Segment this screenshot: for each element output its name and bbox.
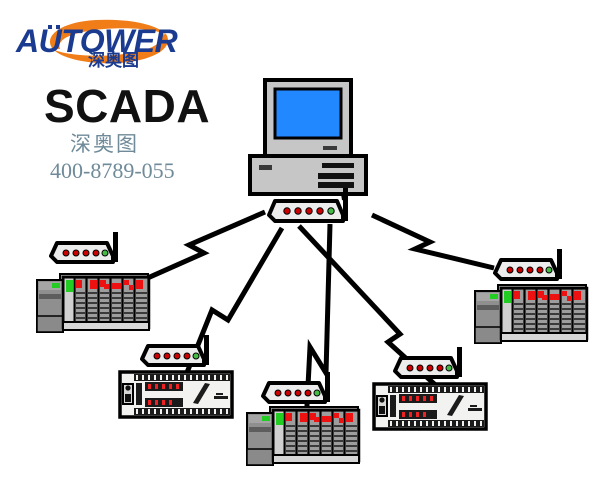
router-led-icon [184,353,190,359]
plc-io-led-icon [550,294,559,300]
plc-io-led-icon [334,413,339,418]
rtu-logo-bar-icon [468,408,482,411]
pc-drive-slot-icon [318,182,354,188]
router-led-icon [546,267,552,273]
plc-io-led-icon [124,280,129,285]
plc-cpu-run-led-icon [490,294,498,299]
pc-screen [275,89,341,138]
router-led-icon [527,267,533,273]
plc-cpu-label-strip [249,427,271,432]
router-led-icon [306,208,312,214]
plc-base-strip [63,322,149,330]
plc-io-led-icon [574,291,581,300]
plc-cpu-lower-face [475,327,501,343]
plc-io-led-icon [314,417,319,422]
router-led-icon [317,208,323,214]
plc-io-led-icon [129,285,134,290]
router-led-icon [427,365,433,371]
plc-io-led-icon [300,413,307,422]
rtu-logo-bar-icon [216,393,223,395]
rtu-port-icon [379,406,385,414]
node-left-plc[interactable] [37,274,149,332]
plc-io-led-icon [528,291,535,300]
plc-io-modules [75,278,148,327]
node-lower-left-rtu[interactable] [120,372,232,417]
plc-base-strip [273,455,359,463]
subtitle-chinese: 深奥图 [70,133,139,156]
router-led-icon [446,365,452,371]
router-led-icon [93,250,99,256]
router-led-icon [154,353,160,359]
router-led-icon [164,353,170,359]
router-led-icon [437,365,443,371]
rtu-port-icon [379,397,384,402]
plc-io-led-icon [322,416,331,422]
pc-monitor-indicator-icon [323,146,337,150]
plc-rack-run-led-icon [276,413,283,425]
scada-network-diagram-page: AUTOWER 深奥图 SCADA 深奥图 400-8789-055 [0,0,600,480]
router-led-icon [537,267,543,273]
plc-cpu-run-led-icon [262,416,270,421]
router-led-icon [174,353,180,359]
router-led-icon [83,250,89,256]
rtu-logo-bar-icon [214,396,228,399]
plc-io-led-icon [542,295,547,300]
plc-cpu-run-led-icon [52,283,60,288]
router-led-icon [73,250,79,256]
pc-drive-slot-icon [318,173,354,179]
plc-io-led-icon [112,283,121,289]
router-led-icon [295,390,301,396]
plc-io-modules [513,289,586,338]
plc-cpu-label-strip [39,294,61,299]
pc-drive-slot-icon [322,163,354,168]
plc-cpu-lower-face [37,316,63,332]
rtu-divider-bar [136,383,142,405]
router-led-icon [275,390,281,396]
plc-io-led-icon [339,418,344,423]
router-led-icon [407,365,413,371]
logo-umlaut-icon [56,25,60,29]
router-led-icon [295,208,301,214]
plc-io-led-icon [514,291,520,299]
router-led-icon [285,390,291,396]
plc-io-modules [285,411,358,460]
router-led-icon [63,250,69,256]
router-led-icon [507,267,513,273]
plc-rack-run-led-icon [66,280,73,292]
router-led-icon [517,267,523,273]
plc-io-led-icon [562,291,567,296]
rtu-port-icon [125,394,131,402]
router-led-icon [328,208,334,214]
plc-io-led-icon [76,280,82,288]
logo-subtitle-cn: 深奥图 [88,50,139,70]
rtu-logo-bar-icon [470,405,477,407]
node-right-plc[interactable] [475,285,587,343]
router-led-icon [417,365,423,371]
plc-io-led-icon [346,413,353,422]
router-led-icon [314,390,320,396]
plc-cpu-lower-face [247,449,273,465]
router-led-icon [193,353,199,359]
plc-io-led-icon [136,280,143,289]
plc-cpu-label-strip [477,305,499,310]
logo-umlaut-icon [48,25,52,29]
plc-io-led-icon [104,284,109,289]
router-led-icon [305,390,311,396]
plc-rack-run-led-icon [504,291,511,303]
page-title: SCADA [44,80,210,132]
plc-base-strip [501,333,587,341]
rtu-divider-bar [390,395,396,417]
node-scada-host-pc[interactable] [250,80,366,194]
network-topology-diagram: AUTOWER 深奥图 SCADA 深奥图 400-8789-055 [0,0,600,480]
pc-power-button-icon [259,165,272,170]
plc-io-led-icon [567,296,572,301]
rtu-port-icon [125,385,130,390]
plc-io-led-icon [286,413,292,421]
plc-io-led-icon [90,280,97,289]
node-lower-right-rtu[interactable] [374,384,486,429]
contact-phone: 400-8789-055 [50,158,175,183]
router-led-icon [284,208,290,214]
router-led-icon [102,250,108,256]
node-bottom-center-plc[interactable] [247,407,359,465]
